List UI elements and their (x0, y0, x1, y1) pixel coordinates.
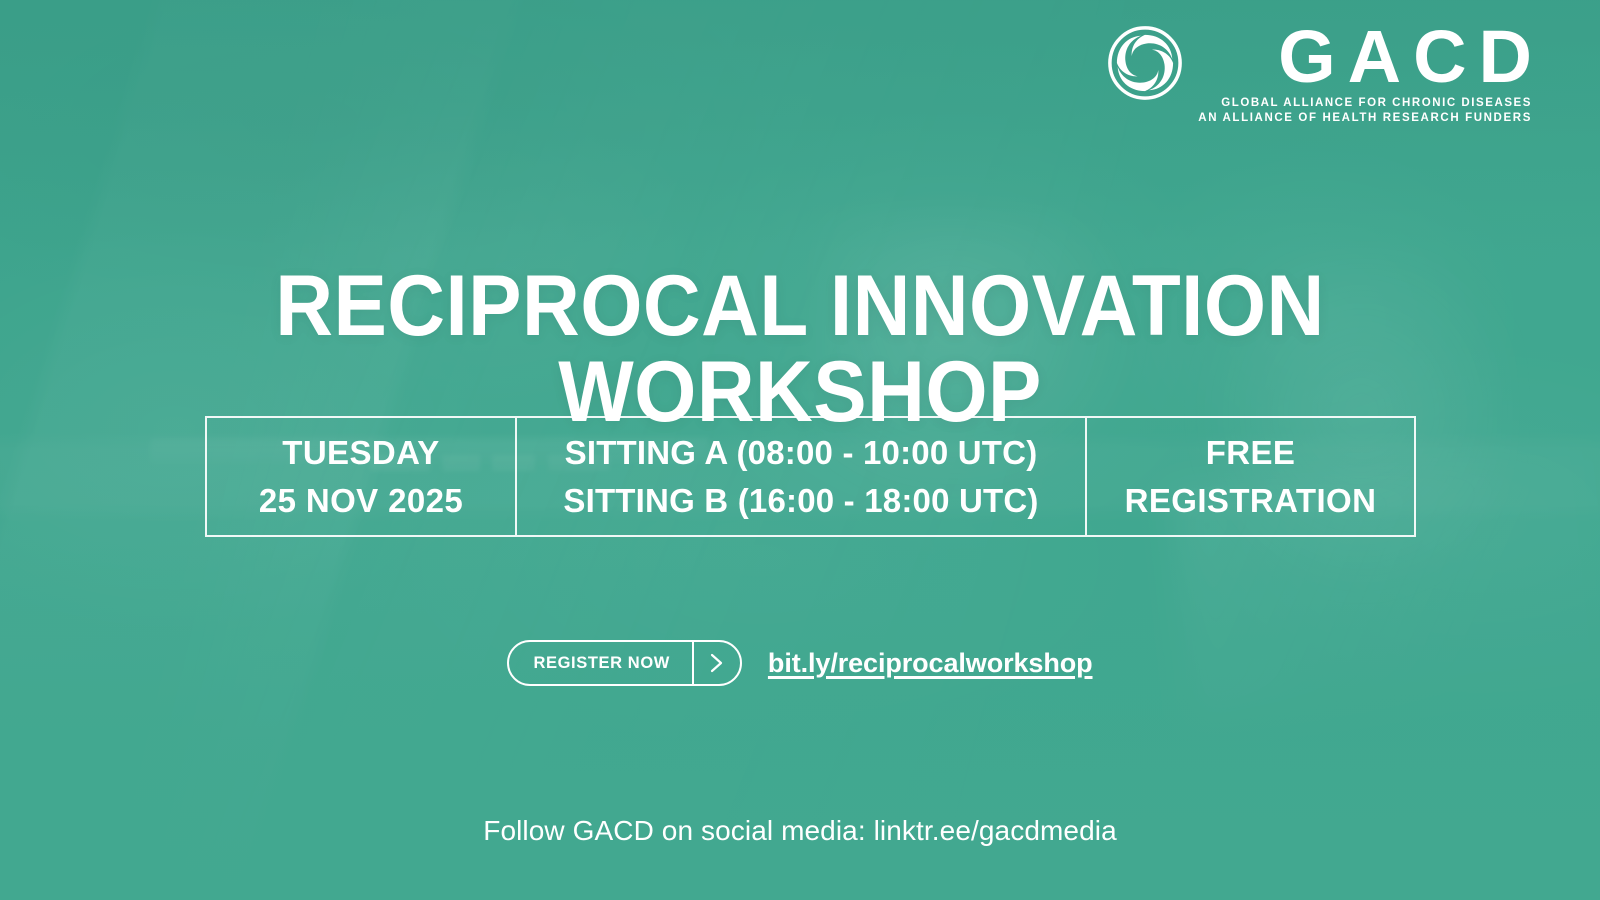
gacd-tagline-line2: AN ALLIANCE OF HEALTH RESEARCH FUNDERS (1198, 111, 1532, 126)
detail-box-sittings: SITTING A (08:00 - 10:00 UTC) SITTING B … (515, 418, 1085, 535)
event-title: RECIPROCAL INNOVATION WORKSHOP (56, 263, 1544, 435)
sitting-a: SITTING A (08:00 - 10:00 UTC) (565, 429, 1038, 477)
gacd-swirl-logo-icon (1106, 24, 1184, 102)
chevron-right-icon (710, 653, 723, 673)
register-now-label: REGISTER NOW (509, 642, 691, 684)
sitting-b: SITTING B (16:00 - 18:00 UTC) (563, 477, 1038, 525)
date-weekday: TUESDAY (282, 429, 439, 477)
detail-box-date: TUESDAY 25 NOV 2025 (207, 418, 515, 535)
gacd-tagline-line1: GLOBAL ALLIANCE FOR CHRONIC DISEASES (1221, 96, 1532, 111)
registration-link[interactable]: bit.ly/reciprocalworkshop (768, 648, 1093, 679)
gacd-wordmark: GACD (1278, 22, 1544, 92)
social-media-footer: Follow GACD on social media: linktr.ee/g… (0, 815, 1600, 847)
cost-free: FREE (1206, 429, 1296, 477)
register-arrow-button[interactable] (692, 642, 740, 684)
detail-box-registration-cost: FREE REGISTRATION (1085, 418, 1414, 535)
gacd-logo: GACD GLOBAL ALLIANCE FOR CHRONIC DISEASE… (1106, 22, 1532, 127)
event-promo-poster: GACD GLOBAL ALLIANCE FOR CHRONIC DISEASE… (0, 0, 1600, 900)
cost-registration: REGISTRATION (1125, 477, 1377, 525)
register-now-button[interactable]: REGISTER NOW (507, 640, 741, 686)
registration-row: REGISTER NOW bit.ly/reciprocalworkshop (0, 640, 1600, 686)
date-value: 25 NOV 2025 (259, 477, 463, 525)
event-details-boxes: TUESDAY 25 NOV 2025 SITTING A (08:00 - 1… (205, 416, 1416, 537)
gacd-logo-text: GACD GLOBAL ALLIANCE FOR CHRONIC DISEASE… (1198, 22, 1532, 127)
